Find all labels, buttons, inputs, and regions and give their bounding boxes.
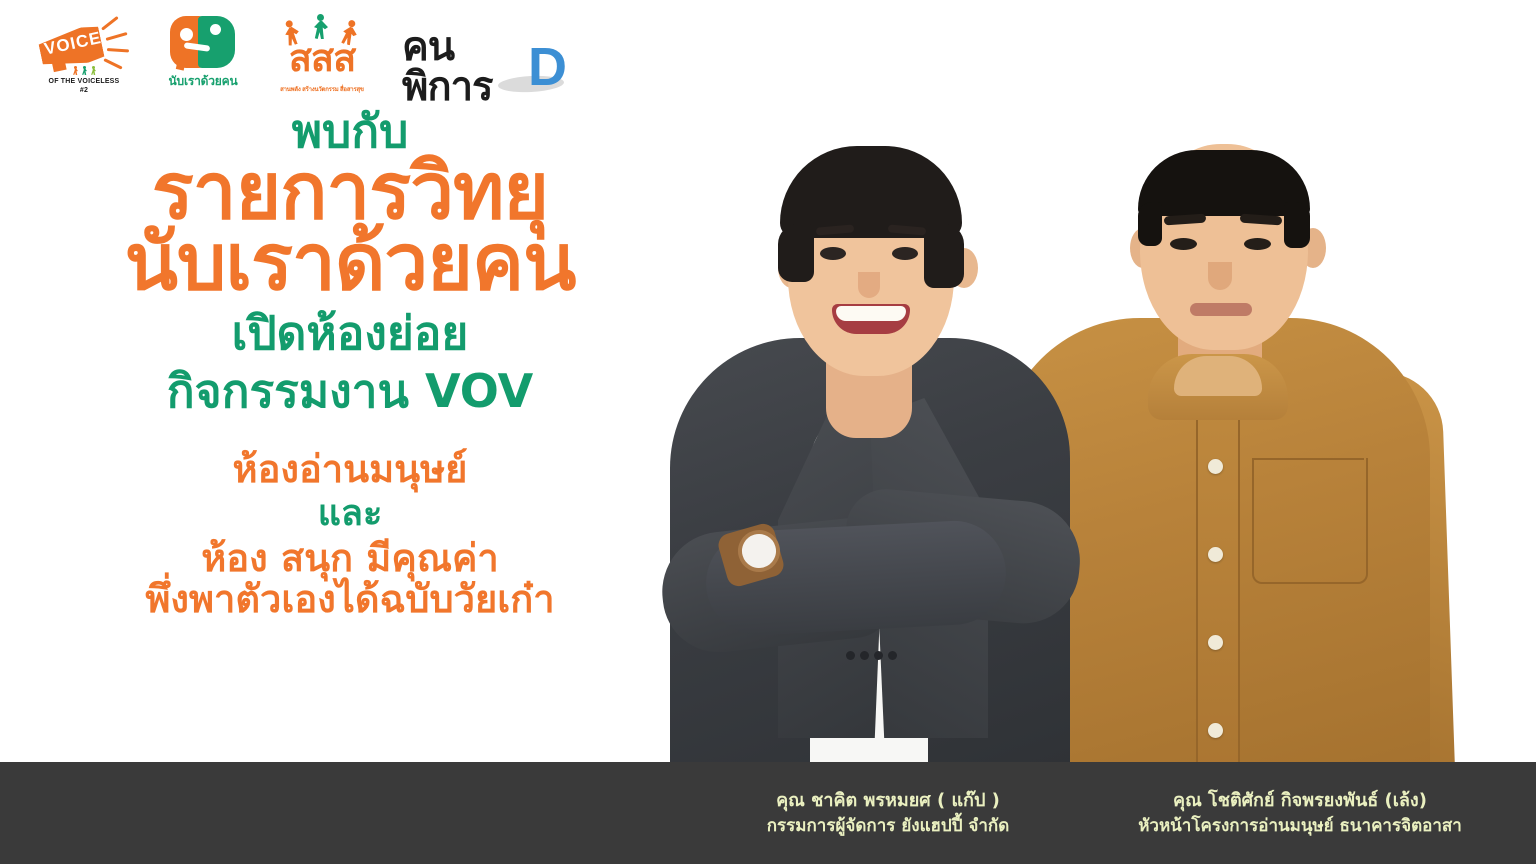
kon-pikan-d-word: คนพิการ xyxy=(402,27,532,107)
headline-line-room-self: พึ่งพาตัวเองได้ฉบับวัยเก๋า xyxy=(0,580,700,620)
shirt-button xyxy=(1208,547,1223,562)
speaker-photo-chakit xyxy=(660,28,1080,768)
mouth xyxy=(832,304,910,334)
headline-line-room-fun: ห้อง สนุก มีคุณค่า xyxy=(0,539,700,579)
speaker-role: กรรมการผู้จัดการ ยังแฮปปี้ จำกัด xyxy=(708,814,1068,839)
shirt-pocket xyxy=(1252,458,1368,584)
nose xyxy=(858,272,880,298)
headline-line-room-human: ห้องอ่านมนุษย์ xyxy=(0,450,700,490)
eye-left xyxy=(820,247,846,260)
speaker-role: หัวหน้าโครงการอ่านมนุษย์ ธนาคารจิตอาสา xyxy=(1120,814,1480,839)
nub-rao-duay-kon-caption: นับเราด้วยคน xyxy=(156,72,250,91)
speaker-name: คุณ ชาคิต พรหมยศ ( แก๊ป ) xyxy=(708,788,1068,814)
mouth xyxy=(1190,303,1252,316)
kon-pikan-d-letter: D xyxy=(528,40,567,94)
promotional-banner: VOICE OF THE VOICELESS #2 นับเราด้วยคน xyxy=(0,0,1536,864)
headline-block: พบกับ รายการวิทยุ นับเราด้วยคน เปิดห้องย… xyxy=(0,108,700,620)
sound-ray-icon xyxy=(106,32,128,41)
sound-ray-icon xyxy=(101,16,119,31)
thaihealth-logo: สสส สานพลัง สร้างนวัตกรรม สื่อสารสุข xyxy=(272,14,372,98)
speaker-caption-bar: คุณ ชาคิต พรหมยศ ( แก๊ป ) กรรมการผู้จัดก… xyxy=(0,762,1536,864)
logo-bar: VOICE OF THE VOICELESS #2 นับเราด้วยคน xyxy=(34,14,567,98)
headline-line-and: และ xyxy=(0,495,700,532)
voice-logo-subtitle-line1: OF THE VOICELESS xyxy=(49,78,120,85)
voice-logo-subtitle: OF THE VOICELESS #2 xyxy=(34,78,134,96)
speaker-photos xyxy=(600,0,1536,768)
hair xyxy=(1138,150,1310,216)
eye-right xyxy=(892,247,918,260)
speaker-name: คุณ โชติศักย์ กิจพรยงพันธ์ (เล้ง) xyxy=(1120,788,1480,814)
speaker-caption-chakit: คุณ ชาคิต พรหมยศ ( แก๊ป ) กรรมการผู้จัดก… xyxy=(708,788,1068,839)
cuff-button xyxy=(846,651,855,660)
thaihealth-logo-tagline: สานพลัง สร้างนวัตกรรม สื่อสารสุข xyxy=(272,84,372,94)
thaihealth-figure-icon xyxy=(311,14,331,40)
voice-logo-subtitle-line2: #2 xyxy=(80,87,88,94)
shirt-button xyxy=(1208,459,1223,474)
cuff-button xyxy=(874,651,883,660)
mandarin-collar xyxy=(1148,354,1288,420)
headline-line-open-room: เปิดห้องย่อย xyxy=(0,310,700,358)
speaker-caption-chotisak: คุณ โชติศักย์ กิจพรยงพันธ์ (เล้ง) หัวหน้… xyxy=(1120,788,1480,839)
shirt-button xyxy=(1208,635,1223,650)
kon-pikan-d-logo: คนพิการ D xyxy=(402,36,567,98)
shirt-placket xyxy=(1196,368,1240,768)
cuff-button xyxy=(860,651,869,660)
people-figures-icon xyxy=(72,66,97,75)
hair xyxy=(780,146,962,238)
headline-line-activity: กิจกรรมงาน VOV xyxy=(0,368,700,416)
voice-of-the-voiceless-logo: VOICE OF THE VOICELESS #2 xyxy=(34,14,134,98)
nub-rao-duay-kon-logo: นับเราด้วยคน xyxy=(164,14,242,98)
headline-line-program: นับเราด้วยคน xyxy=(0,223,700,304)
sound-ray-icon xyxy=(103,58,122,69)
teeth xyxy=(836,306,906,321)
thaihealth-logo-word: สสส xyxy=(272,40,372,78)
green-figure-icon xyxy=(198,16,235,68)
headline-spacer xyxy=(0,416,700,450)
sound-ray-icon xyxy=(107,48,129,53)
shirt-button xyxy=(1208,723,1223,738)
eye-left xyxy=(1170,238,1197,250)
nose xyxy=(1208,262,1232,290)
cuff-button xyxy=(888,651,897,660)
eye-right xyxy=(1244,238,1271,250)
